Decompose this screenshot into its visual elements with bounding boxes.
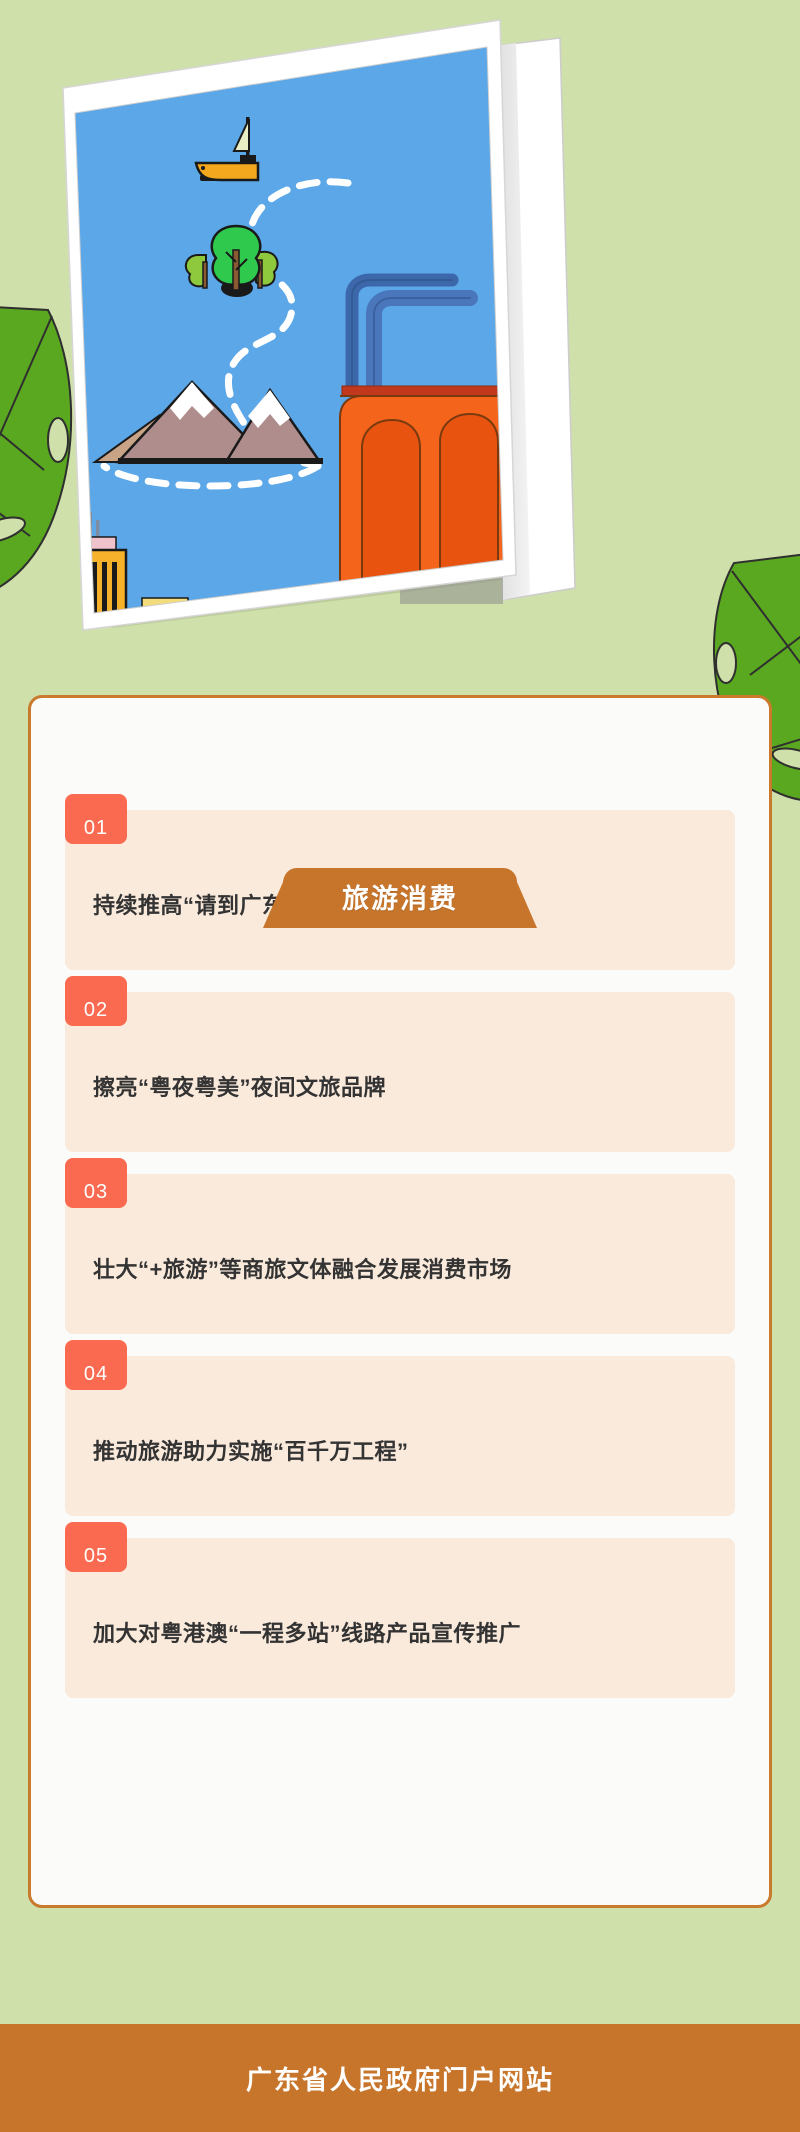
banner-title: 旅游消费: [263, 868, 537, 928]
item-text: 擦亮“粤夜粤美”夜间文旅品牌: [93, 1071, 386, 1104]
item-number-badge: 01: [65, 794, 127, 844]
section-banner: 旅游消费: [0, 868, 800, 928]
item-number-badge: 02: [65, 976, 127, 1026]
list-item[interactable]: 02 擦亮“粤夜粤美”夜间文旅品牌: [65, 992, 735, 1152]
list-item[interactable]: 03 壮大“+旅游”等商旅文体融合发展消费市场: [65, 1174, 735, 1334]
item-number-badge: 05: [65, 1522, 127, 1572]
footer-bar: 广东省人民政府门户网站: [0, 2024, 800, 2132]
footer-text: 广东省人民政府门户网站: [246, 2060, 554, 2097]
item-text: 加大对粤港澳“一程多站”线路产品宣传推广: [93, 1617, 521, 1650]
list-item[interactable]: 05 加大对粤港澳“一程多站”线路产品宣传推广: [65, 1538, 735, 1698]
item-text: 推动旅游助力实施“百千万工程”: [93, 1435, 409, 1468]
item-number-badge: 04: [65, 1340, 127, 1390]
measures-list: 01 持续推高“请到广东”系列文旅品牌网络热度 02 擦亮“粤夜粤美”夜间文旅品…: [65, 810, 735, 1698]
hero-svg: [0, 0, 800, 640]
photo-content: [55, 20, 560, 640]
hero-illustration: [0, 0, 800, 640]
list-item[interactable]: 04 推动旅游助力实施“百千万工程”: [65, 1356, 735, 1516]
infographic-page: 01 持续推高“请到广东”系列文旅品牌网络热度 02 擦亮“粤夜粤美”夜间文旅品…: [0, 0, 800, 2132]
item-number-badge: 03: [65, 1158, 127, 1208]
item-text: 壮大“+旅游”等商旅文体融合发展消费市场: [93, 1253, 512, 1286]
